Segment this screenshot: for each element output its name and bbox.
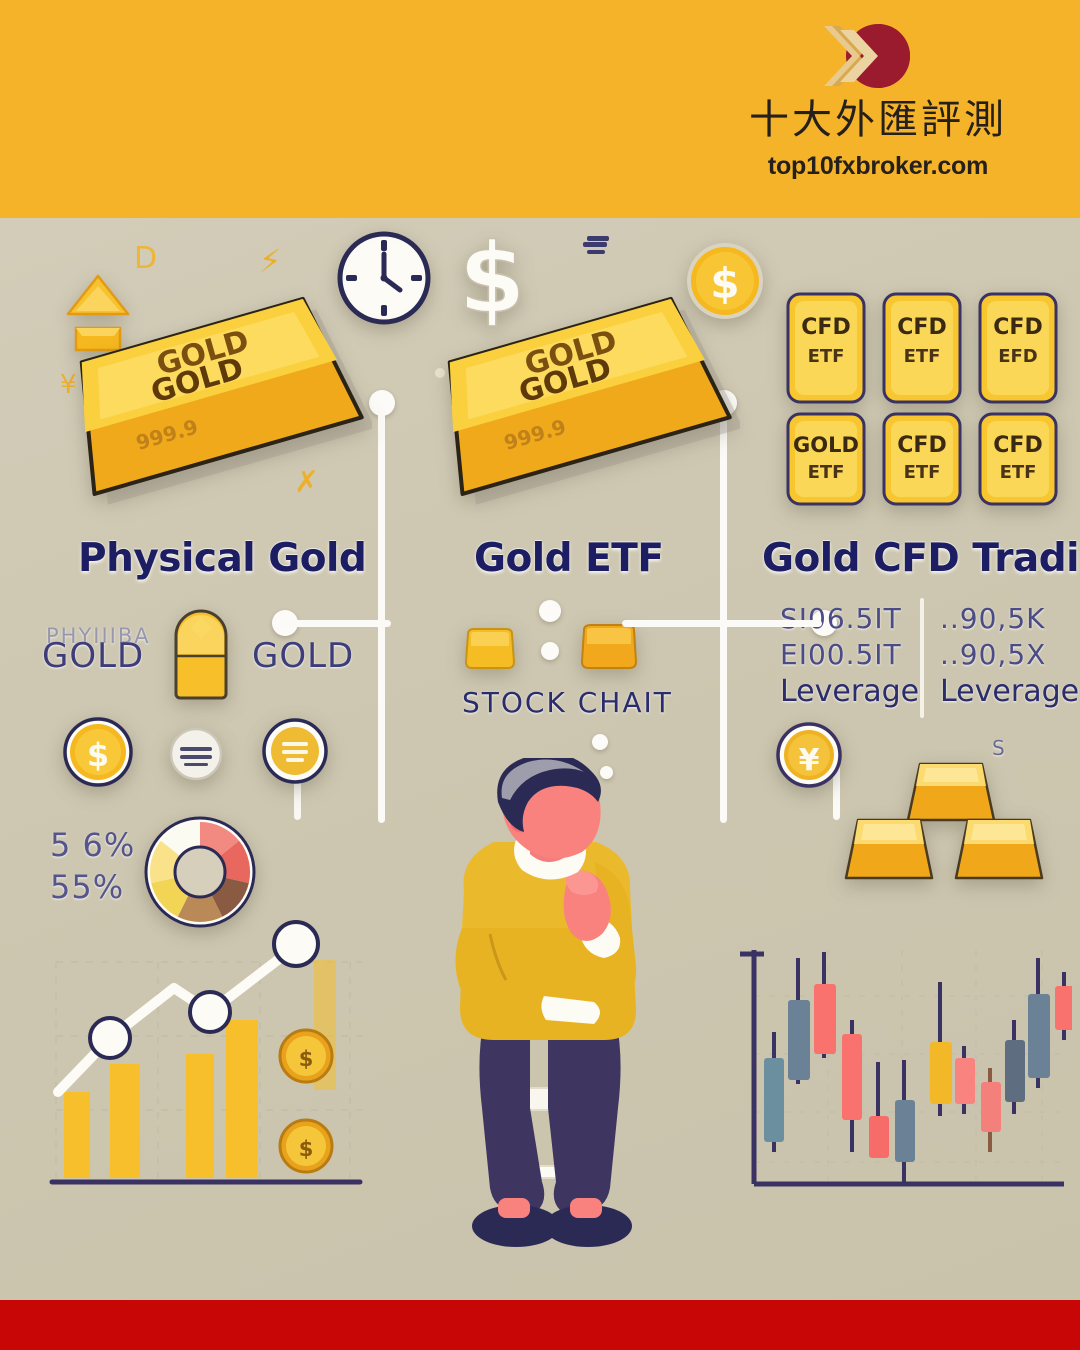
svg-text:ETF: ETF — [904, 462, 941, 483]
svg-text:$: $ — [299, 1047, 314, 1071]
cfd-stat-right-line2: ..90,5X — [940, 638, 1046, 671]
physical-pct-top: 5 6% — [50, 826, 135, 864]
cfd-bar-4: GOLD ETF — [788, 414, 864, 504]
connector-arm-right — [622, 620, 822, 627]
decorative-glyph-icon: D — [130, 238, 170, 278]
line-marker-1 — [90, 1018, 130, 1058]
footer-bar — [0, 1300, 1080, 1350]
cfd-stat-left-line1: SI06.5IT — [780, 602, 902, 635]
bar-4 — [226, 1020, 258, 1178]
top10fxbroker-logo-icon — [728, 18, 1028, 94]
chart-coin-1: $ — [280, 1030, 332, 1082]
silver-coin-icon — [168, 726, 224, 782]
section-title-gold-cfd: Gold CFD Trading — [762, 536, 1080, 581]
growth-bar-chart: $ $ — [34, 914, 384, 1212]
cfd-stat-right-label: Leverage — [940, 674, 1079, 709]
svg-text:⚡: ⚡ — [259, 242, 281, 280]
cfd-stat-divider — [920, 598, 924, 718]
physical-gold-label-right: GOLD — [252, 636, 354, 676]
cfd-bar-3: CFD EFD — [980, 294, 1056, 402]
etf-block-right-icon — [578, 622, 640, 672]
cfd-stat-left-line2: EI00.5IT — [780, 638, 902, 671]
yen-coin-icon: ¥ — [776, 722, 842, 788]
thinking-person-illustration — [398, 758, 698, 1300]
etf-dot-upper — [539, 600, 561, 622]
cfd-stat-left-label: Leverage — [780, 674, 919, 709]
svg-text:¥: ¥ — [799, 743, 820, 778]
header-bar: 十大外匯評測 top10fxbroker.com — [0, 0, 1080, 218]
cfd-dollar-mark: S — [992, 736, 1005, 760]
physical-pct-bottom: 55% — [50, 868, 124, 906]
svg-text:ETF: ETF — [1000, 462, 1037, 483]
gold-bar-stack-icon — [836, 758, 1062, 886]
svg-text:EFD: EFD — [998, 346, 1038, 367]
brand-url: top10fxbroker.com — [728, 152, 1028, 181]
small-glyph-icon — [575, 228, 619, 272]
svg-text:$: $ — [299, 1137, 314, 1161]
bar-2 — [110, 1064, 140, 1178]
candle-12 — [1055, 972, 1072, 1040]
price-candlestick-chart — [724, 936, 1072, 1214]
cfd-gold-bar-grid: CFD ETF CFD ETF CFD EFD GOLD ETF — [782, 286, 1074, 511]
candle-1 — [764, 1032, 784, 1152]
candle-6 — [895, 1060, 915, 1186]
section-title-gold-etf: Gold ETF — [474, 536, 664, 581]
etf-stock-chart-label: STOCK CHAIT — [462, 686, 673, 719]
candle-9 — [981, 1068, 1001, 1152]
section-title-physical-gold: Physical Gold — [78, 536, 366, 581]
candle-2 — [788, 958, 810, 1084]
infographic-page: 十大外匯評測 top10fxbroker.com D ⚡ ¥ — [0, 0, 1080, 1350]
dollar-coin-icon: $ — [62, 716, 134, 788]
candle-3 — [814, 952, 836, 1058]
svg-text:CFD: CFD — [897, 433, 946, 458]
svg-text:CFD: CFD — [993, 433, 1042, 458]
svg-text:CFD: CFD — [801, 315, 850, 340]
candle-8 — [955, 1046, 975, 1114]
etf-dot-lower — [541, 642, 559, 660]
cfd-bar-1: CFD ETF — [788, 294, 864, 402]
connector-arm-left — [281, 620, 391, 627]
candle-10 — [1005, 1020, 1025, 1114]
etf-gold-bar-icon: GOLD GOLD 999.9 — [420, 288, 740, 518]
line-marker-2 — [190, 992, 230, 1032]
physical-gold-label-left: GOLD — [42, 636, 144, 676]
thought-dot-1 — [592, 734, 608, 750]
decorative-glyph-icon: ⚡ — [255, 238, 301, 284]
brand-name-cn: 十大外匯評測 — [728, 96, 1028, 144]
cfd-bar-5: CFD ETF — [884, 414, 960, 504]
candle-4 — [842, 1020, 862, 1152]
svg-text:CFD: CFD — [993, 315, 1042, 340]
cfd-bar-2: CFD ETF — [884, 294, 960, 402]
chart-coin-2: $ — [280, 1120, 332, 1172]
candle-5 — [869, 1062, 889, 1158]
svg-text:GOLD: GOLD — [793, 433, 859, 457]
cfd-stat-right-line1: ..90,5K — [940, 602, 1046, 635]
brand-block: 十大外匯評測 top10fxbroker.com — [728, 18, 1028, 181]
svg-text:CFD: CFD — [897, 315, 946, 340]
bar-3 — [186, 1054, 214, 1178]
bar-1 — [64, 1092, 90, 1178]
etf-block-left-icon — [462, 626, 518, 672]
line-marker-3 — [274, 922, 318, 966]
svg-text:ETF: ETF — [904, 346, 941, 367]
svg-text:$: $ — [87, 736, 109, 774]
physical-gold-bar-icon: GOLD GOLD 999.9 — [52, 288, 372, 518]
currency-coin-icon — [262, 718, 328, 784]
connector-line-mid-upper — [378, 403, 385, 623]
infographic-canvas: D ⚡ ¥ ✗ — [0, 218, 1080, 1300]
svg-text:ETF: ETF — [808, 346, 845, 367]
svg-text:ETF: ETF — [808, 462, 845, 483]
svg-text:D: D — [134, 241, 157, 276]
cfd-bar-6: CFD ETF — [980, 414, 1056, 504]
gold-capsule-icon — [170, 602, 232, 702]
candle-11 — [1028, 958, 1050, 1088]
candle-7 — [930, 982, 952, 1116]
